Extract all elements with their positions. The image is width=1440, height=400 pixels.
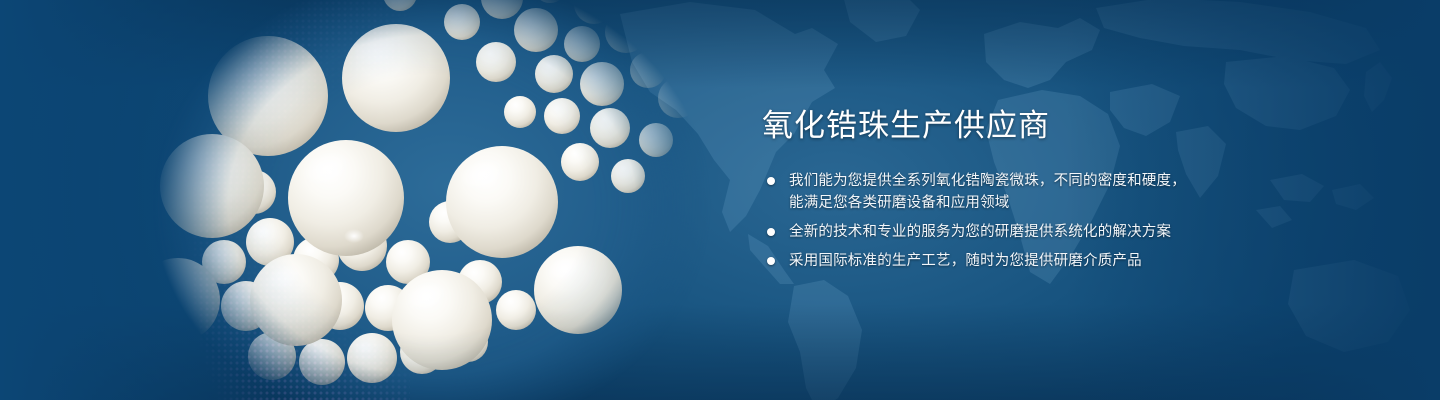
bullet-dot-icon <box>767 257 775 265</box>
bullet-line: 能满足您各类研磨设备和应用领域 <box>789 192 1232 214</box>
hero-banner: 氧化锆珠生产供应商 我们能为您提供全系列氧化锆陶瓷微珠，不同的密度和硬度， 能满… <box>0 0 1440 400</box>
bullet-dot-icon <box>767 177 775 185</box>
bullet-line: 全新的技术和专业的服务为您的研磨提供系统化的解决方案 <box>789 221 1232 243</box>
list-item: 采用国际标准的生产工艺，随时为您提供研磨介质产品 <box>762 250 1232 272</box>
bullet-line: 采用国际标准的生产工艺，随时为您提供研磨介质产品 <box>789 250 1232 272</box>
page-title: 氧化锆珠生产供应商 <box>762 108 1232 144</box>
list-item: 我们能为您提供全系列氧化锆陶瓷微珠，不同的密度和硬度， 能满足您各类研磨设备和应… <box>762 170 1232 214</box>
bullet-line: 我们能为您提供全系列氧化锆陶瓷微珠，不同的密度和硬度， <box>789 170 1232 192</box>
feature-list: 我们能为您提供全系列氧化锆陶瓷微珠，不同的密度和硬度， 能满足您各类研磨设备和应… <box>762 170 1232 272</box>
bullet-dot-icon <box>767 228 775 236</box>
banner-copy: 氧化锆珠生产供应商 我们能为您提供全系列氧化锆陶瓷微珠，不同的密度和硬度， 能满… <box>762 108 1232 272</box>
list-item: 全新的技术和专业的服务为您的研磨提供系统化的解决方案 <box>762 221 1232 243</box>
